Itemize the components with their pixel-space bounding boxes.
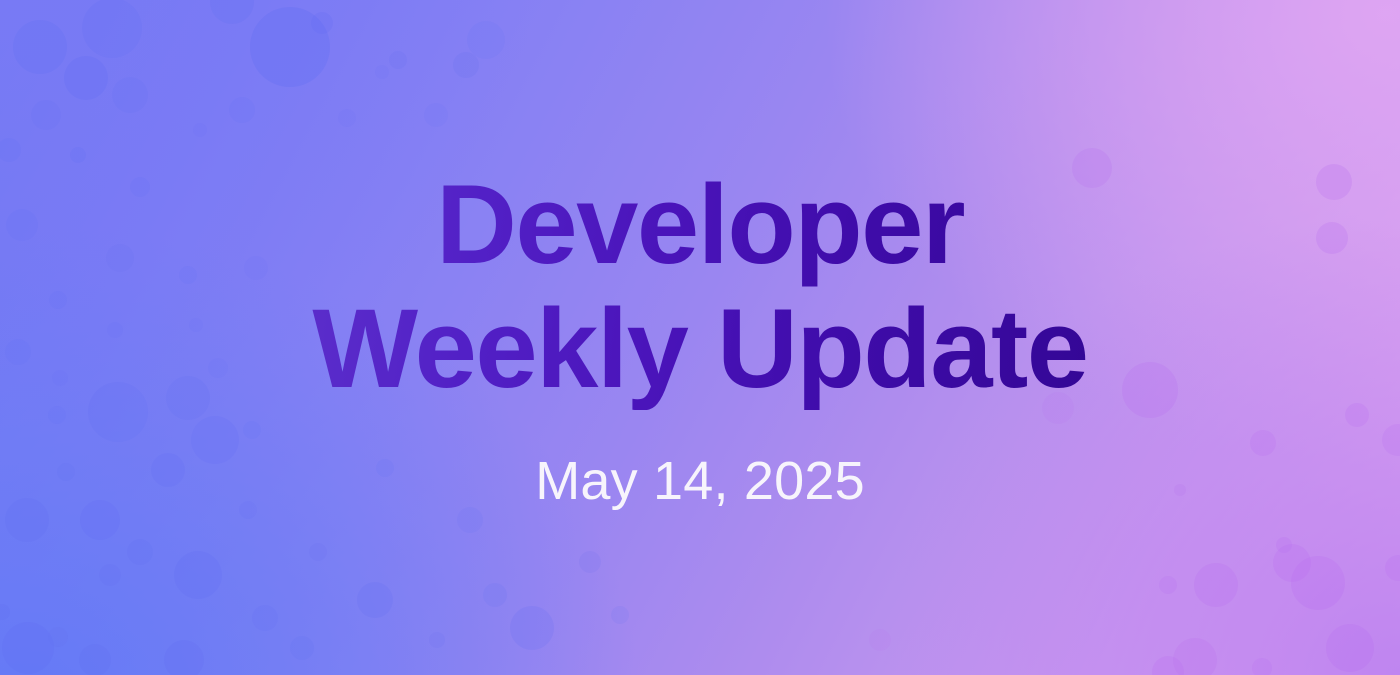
page-title-line-1: Developer bbox=[436, 162, 964, 287]
page-title-line-2: Weekly Update bbox=[312, 286, 1087, 411]
slide-content: DeveloperWeekly Update May 14, 2025 bbox=[0, 0, 1400, 675]
slide-canvas: DeveloperWeekly Update May 14, 2025 bbox=[0, 0, 1400, 675]
slide-date-subtitle: May 14, 2025 bbox=[535, 450, 865, 512]
page-title: DeveloperWeekly Update bbox=[312, 163, 1087, 409]
